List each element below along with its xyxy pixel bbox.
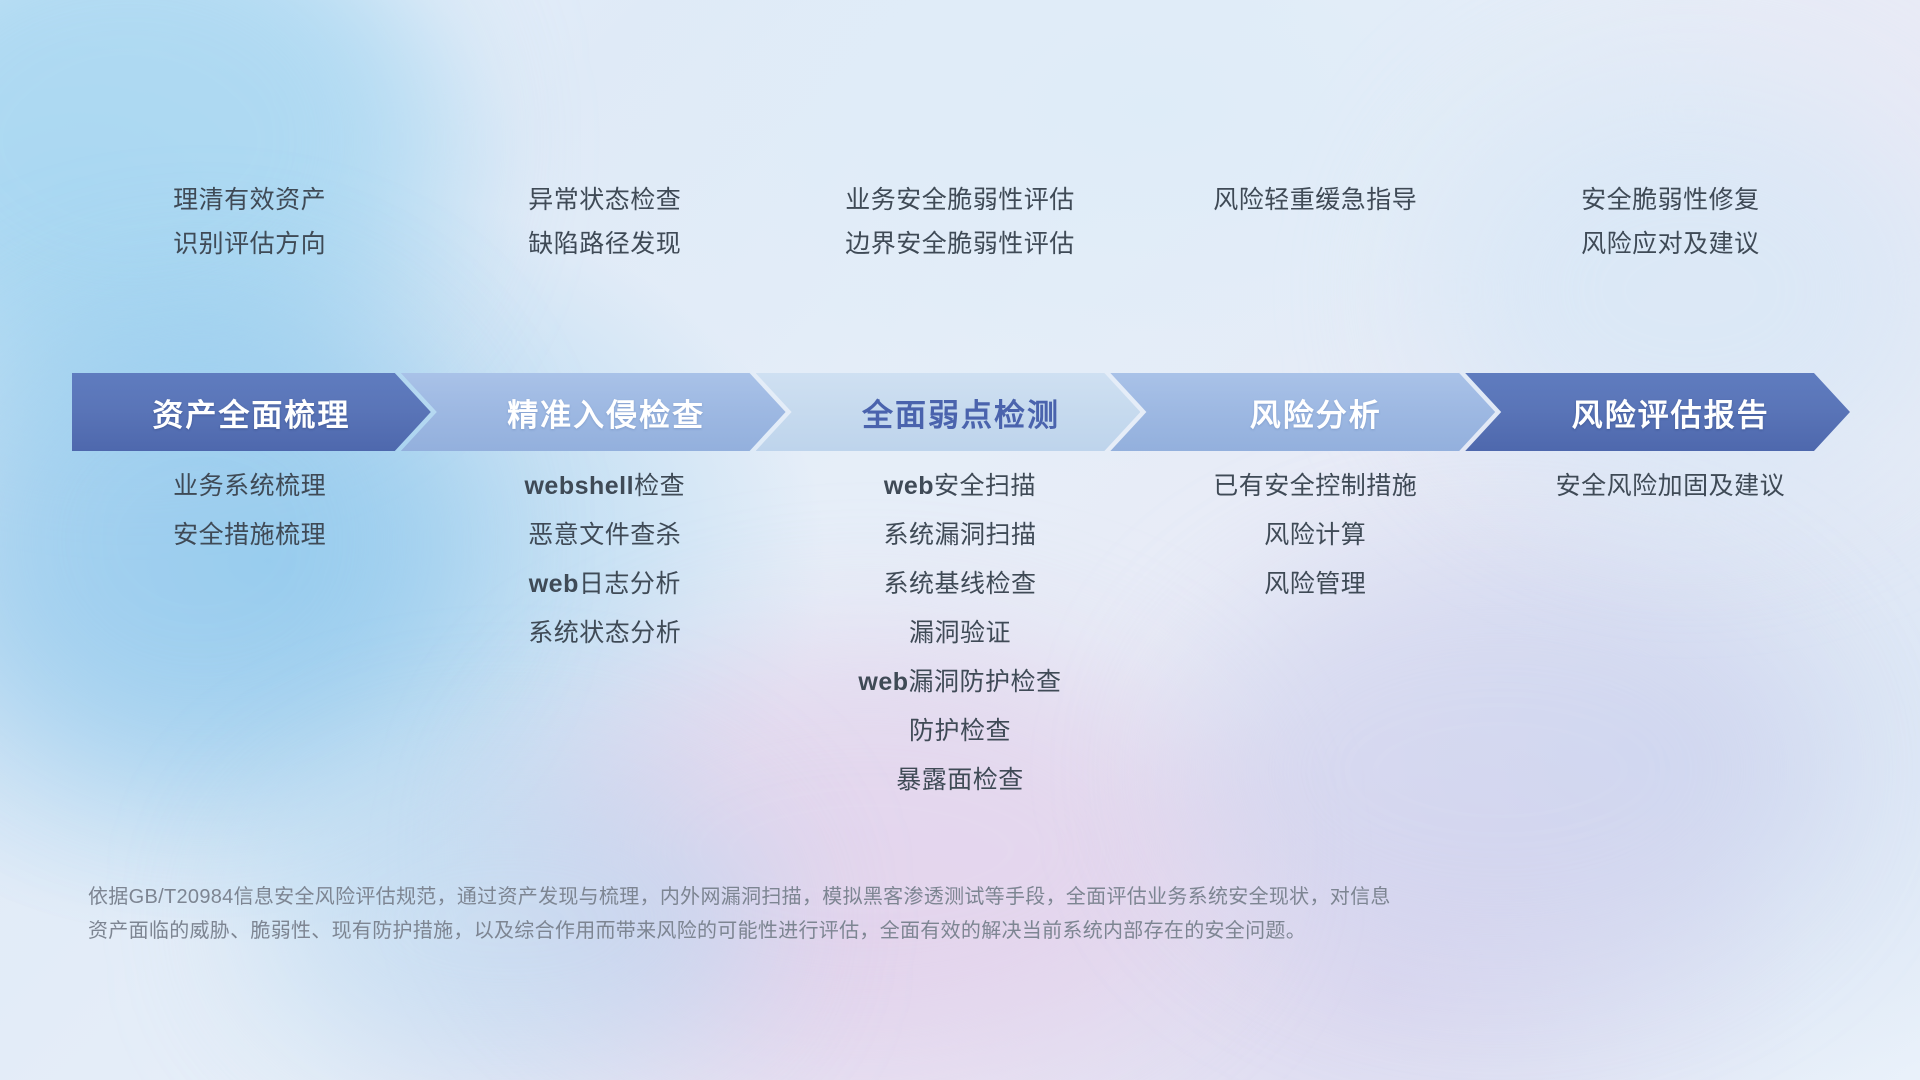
detail-item-cjk: 业务系统梳理: [173, 472, 326, 500]
detail-list-item: web漏洞防护检查: [782, 658, 1137, 707]
top-caption-asset-inventory: 理清有效资产识别评估方向: [72, 178, 427, 266]
top-caption-intrusion-check: 异常状态检查缺陷路径发现: [427, 178, 782, 266]
detail-item-cjk: 系统状态分析: [528, 619, 681, 647]
top-caption-item: 异常状态检查: [427, 178, 782, 222]
slide-canvas: 理清有效资产识别评估方向异常状态检查缺陷路径发现业务安全脆弱性评估边界安全脆弱性…: [0, 0, 1920, 1080]
detail-item-cjk: 已有安全控制措施: [1213, 472, 1417, 500]
footer-description: 依据GB/T20984信息安全风险评估规范，通过资产发现与梳理，内外网漏洞扫描，…: [88, 880, 1598, 948]
top-caption-item: 理清有效资产: [72, 178, 427, 222]
detail-item-cjk: 暴露面检查: [896, 766, 1024, 794]
detail-list-item: 风险计算: [1138, 511, 1493, 560]
detail-item-latin: web: [858, 668, 908, 696]
diagram-content: 理清有效资产识别评估方向异常状态检查缺陷路径发现业务安全脆弱性评估边界安全脆弱性…: [0, 0, 1920, 1080]
detail-item-cjk: 风险管理: [1264, 570, 1366, 598]
detail-list-item: 系统漏洞扫描: [782, 511, 1137, 560]
detail-item-cjk: 防护检查: [909, 717, 1011, 745]
detail-list-item: 系统状态分析: [427, 609, 782, 658]
detail-list-item: 恶意文件查杀: [427, 511, 782, 560]
stage-arrow-weakness-detection[interactable]: 全面弱点检测: [756, 373, 1141, 451]
top-caption-item: 风险轻重缓急指导: [1138, 178, 1493, 222]
detail-list-item: web日志分析: [427, 560, 782, 609]
detail-list-item: 业务系统梳理: [72, 462, 427, 511]
top-caption-item: 业务安全脆弱性评估: [782, 178, 1137, 222]
bottom-details-row: 业务系统梳理安全措施梳理webshell检查恶意文件查杀web日志分析系统状态分…: [72, 462, 1848, 805]
footer-line-1: 依据GB/T20984信息安全风险评估规范，通过资产发现与梳理，内外网漏洞扫描，…: [88, 880, 1598, 914]
detail-item-cjk: 风险计算: [1264, 521, 1366, 549]
top-caption-item: 安全脆弱性修复: [1493, 178, 1848, 222]
detail-item-cjk: 漏洞验证: [909, 619, 1011, 647]
detail-list-item: 漏洞验证: [782, 609, 1137, 658]
detail-list-weakness-detection: web安全扫描系统漏洞扫描系统基线检查漏洞验证web漏洞防护检查防护检查暴露面检…: [782, 462, 1137, 805]
detail-item-cjk: 安全扫描: [934, 472, 1036, 500]
detail-list-item: 安全措施梳理: [72, 511, 427, 560]
stage-arrow-label: 全面弱点检测: [862, 390, 1060, 435]
footer-line-2: 资产面临的威胁、脆弱性、现有防护措施，以及综合作用而带来风险的可能性进行评估，全…: [88, 914, 1598, 948]
detail-item-cjk: 系统基线检查: [883, 570, 1036, 598]
stage-arrow-label: 资产全面梳理: [152, 390, 350, 435]
top-caption-item: 缺陷路径发现: [427, 222, 782, 266]
stage-arrow-label: 风险评估报告: [1572, 390, 1770, 435]
detail-list-item: web安全扫描: [782, 462, 1137, 511]
detail-list-item: 安全风险加固及建议: [1493, 462, 1848, 511]
top-captions-row: 理清有效资产识别评估方向异常状态检查缺陷路径发现业务安全脆弱性评估边界安全脆弱性…: [72, 178, 1848, 266]
stage-arrow-intrusion-check[interactable]: 精准入侵检查: [401, 373, 786, 451]
stage-arrow-label: 精准入侵检查: [507, 390, 705, 435]
detail-list-item: 已有安全控制措施: [1138, 462, 1493, 511]
detail-item-cjk: 检查: [634, 472, 685, 500]
detail-list-asset-inventory: 业务系统梳理安全措施梳理: [72, 462, 427, 560]
detail-list-intrusion-check: webshell检查恶意文件查杀web日志分析系统状态分析: [427, 462, 782, 658]
detail-item-cjk: 系统漏洞扫描: [883, 521, 1036, 549]
detail-item-latin: web: [884, 472, 934, 500]
top-caption-item: 边界安全脆弱性评估: [782, 222, 1137, 266]
detail-item-cjk: 安全风险加固及建议: [1556, 472, 1786, 500]
detail-item-cjk: 安全措施梳理: [173, 521, 326, 549]
detail-item-cjk: 漏洞防护检查: [909, 668, 1062, 696]
detail-list-item: webshell检查: [427, 462, 782, 511]
stage-arrow-label: 风险分析: [1250, 390, 1382, 435]
detail-item-latin: web: [529, 570, 579, 598]
stage-arrow-risk-report[interactable]: 风险评估报告: [1465, 373, 1850, 451]
detail-list-item: 暴露面检查: [782, 756, 1137, 805]
stage-arrow-asset-inventory[interactable]: 资产全面梳理: [72, 373, 431, 451]
top-caption-risk-analysis: 风险轻重缓急指导: [1138, 178, 1493, 266]
stage-arrow-risk-analysis[interactable]: 风险分析: [1110, 373, 1495, 451]
top-caption-item: 识别评估方向: [72, 222, 427, 266]
detail-list-item: 风险管理: [1138, 560, 1493, 609]
top-caption-weakness-detection: 业务安全脆弱性评估边界安全脆弱性评估: [782, 178, 1137, 266]
detail-item-cjk: 恶意文件查杀: [528, 521, 681, 549]
detail-list-risk-report: 安全风险加固及建议: [1493, 462, 1848, 511]
top-caption-item: 风险应对及建议: [1493, 222, 1848, 266]
detail-item-latin: webshell: [524, 472, 634, 500]
process-arrow-band: 资产全面梳理精准入侵检查全面弱点检测风险分析风险评估报告: [72, 373, 1850, 451]
top-caption-risk-report: 安全脆弱性修复风险应对及建议: [1493, 178, 1848, 266]
detail-list-risk-analysis: 已有安全控制措施风险计算风险管理: [1138, 462, 1493, 609]
detail-list-item: 防护检查: [782, 707, 1137, 756]
detail-item-cjk: 日志分析: [579, 570, 681, 598]
detail-list-item: 系统基线检查: [782, 560, 1137, 609]
